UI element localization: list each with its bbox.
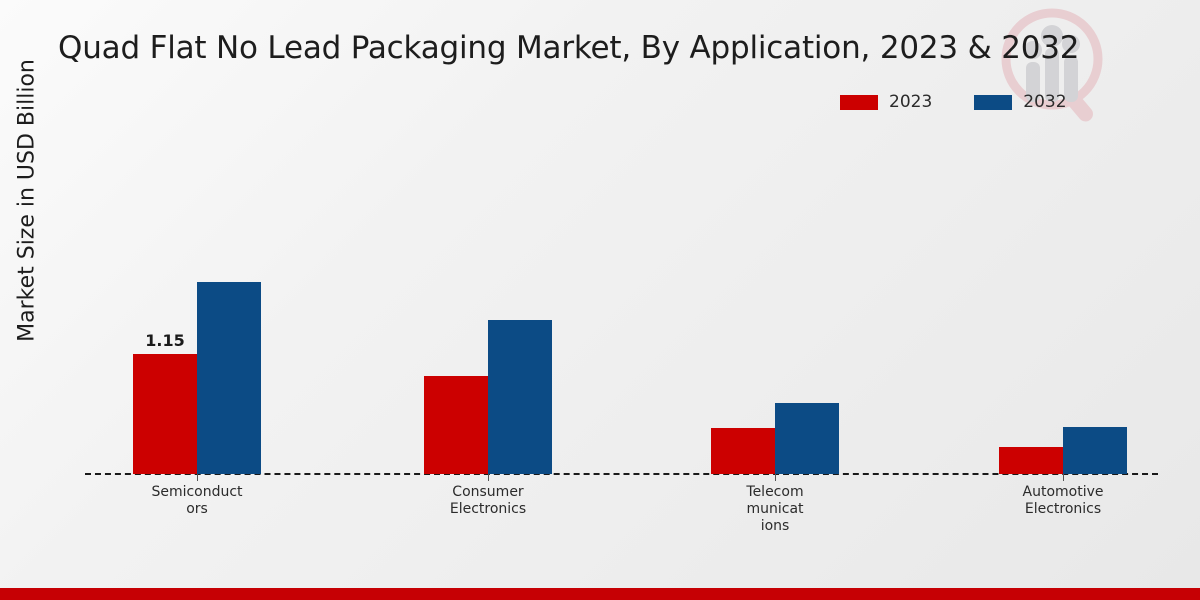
category-label: Telecommunications — [695, 484, 855, 535]
bar-group — [999, 427, 1127, 474]
category-label-line: Telecom — [695, 484, 855, 501]
category-label: ConsumerElectronics — [408, 484, 568, 518]
chart-container: Quad Flat No Lead Packaging Market, By A… — [0, 0, 1200, 600]
category-label: AutomotiveElectronics — [983, 484, 1143, 518]
bar-2032-3[interactable] — [1063, 427, 1127, 474]
category-label-line: Automotive — [983, 484, 1143, 501]
axis-tick — [775, 474, 776, 481]
category-label-line: Electronics — [983, 501, 1143, 518]
category-label-line: Consumer — [408, 484, 568, 501]
bar-group — [711, 403, 839, 474]
bar-group: 1.15 — [133, 282, 261, 474]
category-label-line: Electronics — [408, 501, 568, 518]
axis-tick — [197, 474, 198, 481]
bar-2032-2[interactable] — [775, 403, 839, 474]
bar-2023-1[interactable] — [424, 376, 488, 474]
category-label-line: ions — [695, 518, 855, 535]
category-label: Semiconductors — [117, 484, 277, 518]
category-label-line: municat — [695, 501, 855, 518]
category-label-line: Semiconduct — [117, 484, 277, 501]
category-label-line: ors — [117, 501, 277, 518]
axis-tick — [1063, 474, 1064, 481]
plot-area: 1.15 SemiconductorsConsumerElectronicsTe… — [0, 0, 1200, 600]
bar-2032-0[interactable] — [197, 282, 261, 474]
bar-group — [424, 320, 552, 474]
bar-value-label: 1.15 — [133, 331, 197, 350]
axis-tick — [488, 474, 489, 481]
footer-accent-bar — [0, 588, 1200, 600]
bar-2023-3[interactable] — [999, 447, 1063, 474]
bar-2032-1[interactable] — [488, 320, 552, 474]
bar-2023-0[interactable] — [133, 354, 197, 474]
bar-2023-2[interactable] — [711, 428, 775, 474]
